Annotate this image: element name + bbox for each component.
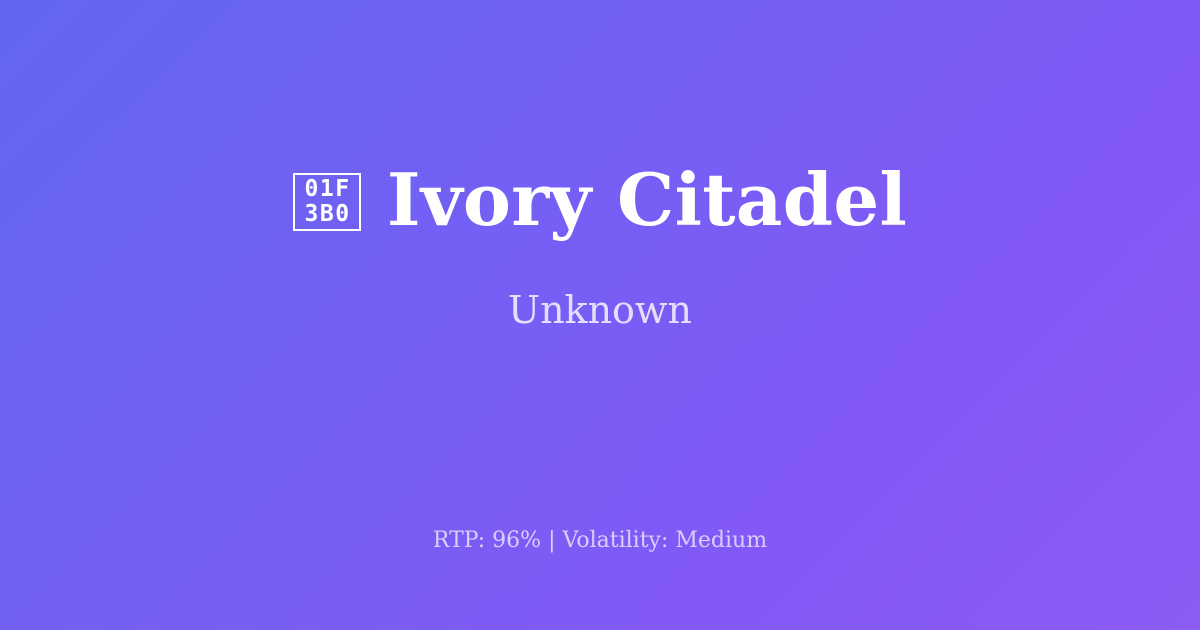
slot-machine-icon: 01F 3B0 [293,173,361,231]
og-share-card: 01F 3B0 Ivory Citadel Unknown RTP: 96% |… [0,0,1200,630]
game-provider-subtitle: Unknown [508,288,692,334]
title-row: 01F 3B0 Ivory Citadel [293,162,907,238]
hero-block: 01F 3B0 Ivory Citadel Unknown [0,0,1200,470]
codepoint-row-top: 01F [303,177,351,202]
page-title: Ivory Citadel [387,162,907,238]
game-stats-line: RTP: 96% | Volatility: Medium [0,528,1200,554]
codepoint-row-bottom: 3B0 [303,202,351,227]
meta-footer: RTP: 96% | Volatility: Medium [0,528,1200,554]
